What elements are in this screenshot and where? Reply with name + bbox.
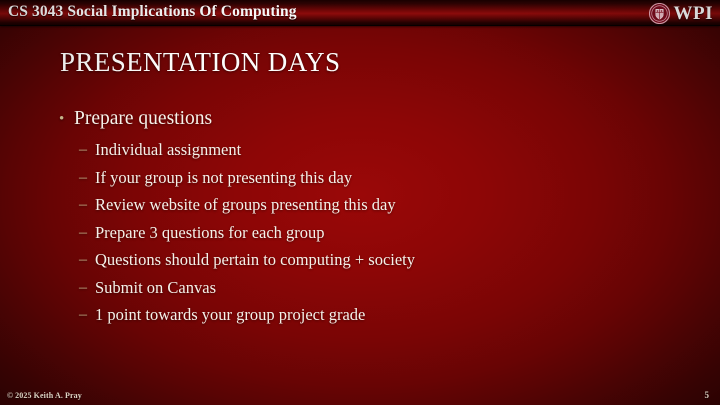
wpi-seal-icon: [649, 3, 670, 24]
bullet-level2: – Individual assignment: [58, 137, 690, 164]
slide-header-bar: CS 3043 Social Implications Of Computing…: [0, 0, 720, 26]
dash-marker-icon: –: [79, 165, 87, 192]
bullet-level2: – Submit on Canvas: [58, 275, 690, 302]
bullet-text: Individual assignment: [95, 140, 241, 159]
slide-body: • Prepare questions – Individual assignm…: [58, 106, 690, 330]
bullet-level2: – If your group is not presenting this d…: [58, 165, 690, 192]
bullet-level2: – Review website of groups presenting th…: [58, 192, 690, 219]
bullet-text: Questions should pertain to computing + …: [95, 250, 415, 269]
wpi-brand: WPI: [649, 1, 714, 25]
dash-marker-icon: –: [79, 220, 87, 247]
dash-marker-icon: –: [79, 137, 87, 164]
bullet-level2: – Questions should pertain to computing …: [58, 247, 690, 274]
bullet-text: If your group is not presenting this day: [95, 168, 352, 187]
bullet-text: Prepare 3 questions for each group: [95, 223, 325, 242]
slide-page-number: 5: [705, 390, 710, 400]
wpi-brand-text: WPI: [674, 3, 714, 24]
presentation-slide: CS 3043 Social Implications Of Computing…: [0, 0, 720, 405]
bullet-text: Prepare questions: [74, 108, 212, 129]
bullet-marker-icon: •: [59, 106, 64, 132]
bullet-text: 1 point towards your group project grade: [95, 305, 365, 324]
slide-title: PRESENTATION DAYS: [60, 47, 340, 78]
bullet-text: Review website of groups presenting this…: [95, 195, 396, 214]
dash-marker-icon: –: [79, 247, 87, 274]
dash-marker-icon: –: [79, 275, 87, 302]
bullet-level2: – Prepare 3 questions for each group: [58, 220, 690, 247]
dash-marker-icon: –: [79, 302, 87, 329]
bullet-level1: • Prepare questions: [58, 106, 690, 132]
dash-marker-icon: –: [79, 192, 87, 219]
course-title: CS 3043 Social Implications Of Computing: [8, 3, 297, 21]
bullet-text: Submit on Canvas: [95, 278, 216, 297]
copyright-notice: © 2025 Keith A. Pray: [7, 391, 82, 400]
bullet-level2: – 1 point towards your group project gra…: [58, 302, 690, 329]
